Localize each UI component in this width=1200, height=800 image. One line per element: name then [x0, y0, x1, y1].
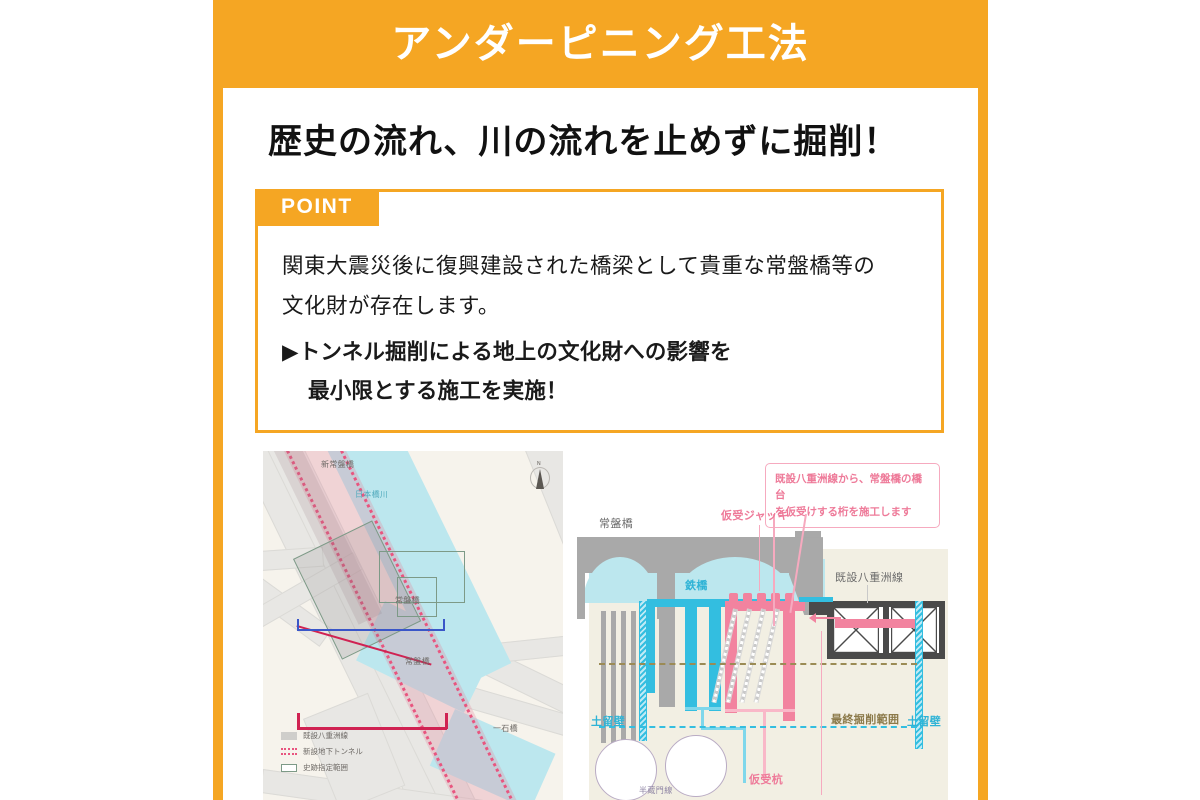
karikake-jack — [743, 593, 752, 602]
callout-leader-1 — [773, 514, 775, 626]
diagram-callout: 既設八重洲線から、常盤橋の橋台 を仮受けする桁を施工します — [765, 463, 940, 528]
bridge-pier — [657, 555, 675, 619]
label-karikake-kui: 仮受杭 — [749, 771, 783, 787]
legend-swatch-gray — [281, 732, 297, 740]
label-saishu-kussaku: 最終掘削範囲 — [831, 711, 899, 727]
plan-map-figure: 新常盤橋 日本橋川 常盤橋 常盤橋 一石橋 N 既設八重洲線 — [263, 451, 563, 800]
karikake-pile — [783, 603, 795, 721]
compass-north-label: N — [537, 461, 541, 467]
point-text-line-1: 関東大震災後に復興建設された橋梁として貴重な常盤橋等の — [282, 247, 919, 287]
karikake-jack — [729, 593, 738, 602]
point-box: POINT 関東大震災後に復興建設された橋梁として貴重な常盤橋等の 文化財が存在… — [255, 189, 944, 433]
label-kisetsu-yaesu: 既設八重洲線 — [835, 569, 903, 585]
compass-icon: N — [529, 463, 551, 491]
legend-swatch-green — [281, 764, 297, 772]
bridge-foundation-pile — [631, 611, 636, 743]
page-root: アンダーピニング工法 歴史の流れ、川の流れを止めずに掘削！ POINT 関東大震… — [0, 0, 1200, 800]
point-emphasis-line-2: 最小限とする施工を実施！ — [282, 372, 919, 412]
legend-item: 既設八重洲線 — [281, 730, 363, 741]
bridge-deck — [577, 537, 813, 555]
map-label-tokiwabashi: 常盤橋 — [395, 595, 420, 606]
tekkyo-column — [647, 601, 655, 693]
map-section-tick — [443, 619, 445, 631]
hanzomon-tunnel-circle — [665, 735, 727, 797]
map-section-line — [297, 629, 445, 631]
label-tekkyo: 鉄橋 — [685, 577, 708, 593]
point-emphasis-line-1: ▶トンネル掘削による地上の文化財への影響を — [282, 333, 919, 373]
figures-row: 新常盤橋 日本橋川 常盤橋 常盤橋 一石橋 N 既設八重洲線 — [263, 451, 978, 800]
legend-label: 既設八重洲線 — [303, 730, 348, 741]
label-dodomekabe-right: 土留壁 — [907, 713, 941, 729]
label-dodomekabe-left: 土留壁 — [591, 713, 625, 729]
legend-label: 新設地下トンネル — [303, 746, 363, 757]
point-tab-label: POINT — [255, 189, 379, 226]
map-label-ichikokubashi: 一石橋 — [493, 723, 518, 734]
map-label-tokiwabashi-2: 常盤橋 — [405, 656, 430, 667]
label-hanzomon: 半蔵門線 — [639, 785, 673, 796]
girder-direction-arrow — [815, 617, 841, 619]
karikake-jack — [757, 593, 766, 602]
label-karikake-jack: 仮受ジャッキ — [721, 507, 789, 523]
banner-header: アンダーピニング工法 — [213, 0, 988, 88]
legend-item: 新設地下トンネル — [281, 746, 363, 757]
compass-needle — [536, 469, 544, 489]
banner-title: アンダーピニング工法 — [391, 24, 809, 64]
legend-item: 史跡指定範囲 — [281, 762, 363, 773]
excavation-upper-boundary — [599, 663, 917, 665]
map-bottom-tick — [445, 713, 448, 729]
map-bottom-tick — [297, 713, 300, 729]
yaesu-tunnel-divider — [883, 601, 889, 659]
yaesu-truss-bracing — [833, 607, 879, 653]
map-label-shin-tokiwabashi: 新常盤橋 — [321, 459, 354, 470]
callout-line-2: を仮受けする桁を施工します — [775, 504, 930, 520]
yaesu-truss-bracing — [891, 607, 937, 653]
retaining-wall-left — [639, 601, 647, 741]
legend-swatch-dotted — [281, 748, 297, 755]
karikake-girder — [835, 619, 923, 628]
orange-frame: アンダーピニング工法 歴史の流れ、川の流れを止めずに掘削！ POINT 関東大震… — [213, 0, 988, 800]
callout-line-1: 既設八重洲線から、常盤橋の橋台 — [775, 471, 930, 504]
label-tokiwabashi: 常盤橋 — [599, 515, 633, 531]
map-legend: 既設八重洲線 新設地下トンネル 史跡指定範囲 — [281, 730, 363, 778]
legend-label: 史跡指定範囲 — [303, 762, 348, 773]
tekkyo-leader — [743, 727, 746, 783]
bridge-pier-pile — [659, 611, 675, 707]
tekkyo-connection — [799, 597, 833, 602]
karikake-tie — [725, 709, 795, 712]
section-diagram-figure: 既設八重洲線から、常盤橋の橋台 を仮受けする桁を施工します 常盤橋 仮受ジャッキ… — [577, 451, 962, 800]
leader-karikake-keta — [821, 631, 822, 795]
map-section-tick — [297, 619, 299, 631]
map-label-nihonbashigawa: 日本橋川 — [355, 489, 388, 500]
tekkyo-column — [685, 601, 697, 711]
point-body: 関東大震災後に復興建設された橋梁として貴重な常盤橋等の 文化財が存在します。 ▶… — [258, 192, 941, 430]
leader-kisetsu-yaesu — [867, 585, 868, 603]
bridge-pier — [577, 555, 585, 619]
content-panel: 歴史の流れ、川の流れを止めずに掘削！ POINT 関東大震災後に復興建設された橋… — [223, 88, 978, 800]
page-heading: 歴史の流れ、川の流れを止めずに掘削！ — [268, 114, 978, 163]
leader-karikake-jack — [759, 525, 760, 591]
point-text-line-2: 文化財が存在します。 — [282, 287, 919, 327]
